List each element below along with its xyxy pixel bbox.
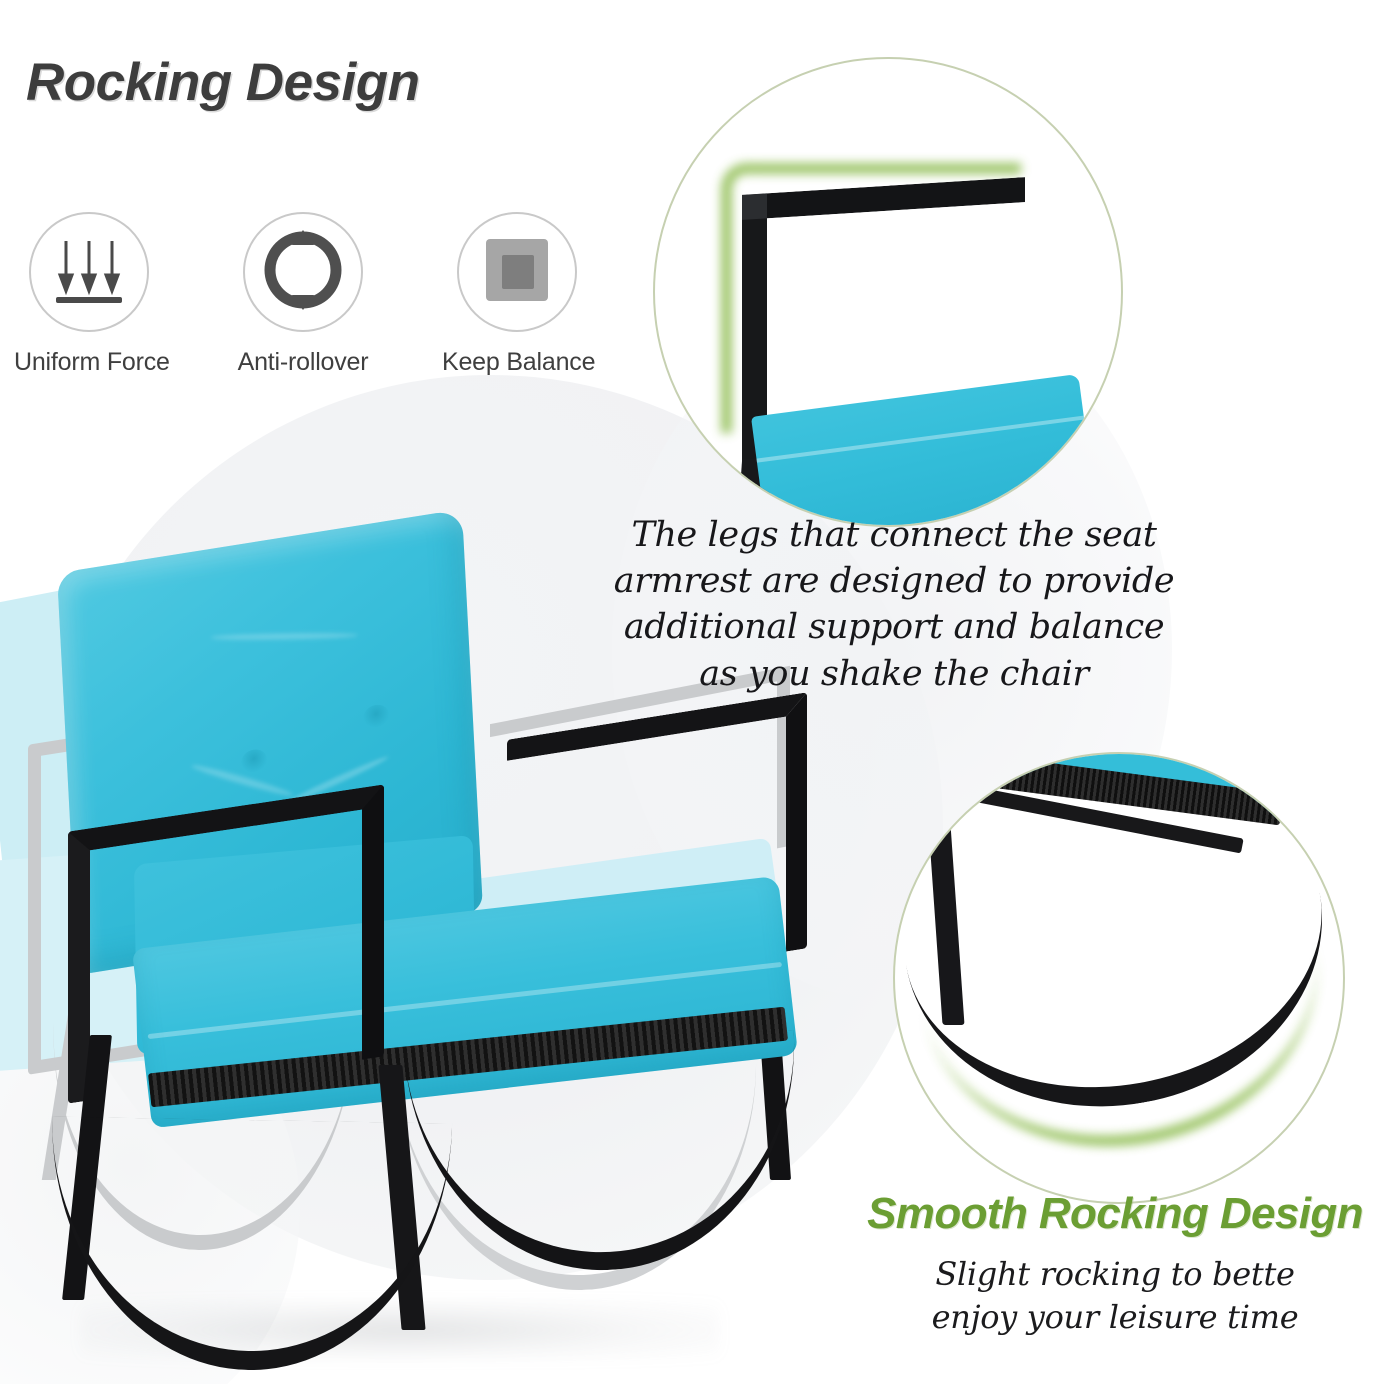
caption-line: The legs that connect the seat — [607, 512, 1181, 558]
feature-keep-balance: Keep Balance — [442, 212, 592, 377]
caption-line: additional support and balance — [607, 604, 1181, 650]
caption-line: as you shake the chair — [607, 651, 1181, 697]
feature-label: Keep Balance — [442, 348, 592, 377]
feature-icon-circle — [457, 212, 577, 332]
feature-label: Anti-rollover — [228, 348, 378, 377]
chair-arm-frame-left — [68, 784, 384, 1103]
caption-line: Slight rocking to bette — [880, 1253, 1350, 1296]
armrest-caption: The legs that connect the seat armrest a… — [607, 512, 1181, 697]
caption-line: armrest are designed to provide — [607, 558, 1181, 604]
chair-rocker-runner-rear — [404, 1030, 806, 1280]
feature-icon-circle — [243, 212, 363, 332]
infographic-canvas: Rocking Design — [0, 0, 1384, 1384]
downward-arrows-icon — [46, 227, 132, 318]
rocker-detail-circle — [893, 752, 1345, 1204]
rocker-headline: Smooth Rocking Design — [846, 1189, 1384, 1239]
feature-label: Uniform Force — [14, 348, 164, 377]
page-title: Rocking Design — [26, 52, 420, 113]
cushion-tuft-button — [241, 748, 268, 774]
rotation-arrows-icon — [260, 227, 346, 318]
feature-icon-circle — [29, 212, 149, 332]
cushion-tuft-button — [363, 703, 390, 729]
armrest-detail-circle — [653, 57, 1123, 527]
feature-uniform-force: Uniform Force — [14, 212, 164, 377]
nested-squares-icon — [474, 227, 560, 318]
feature-anti-rollover: Anti-rollover — [228, 212, 378, 377]
rocker-runner-closeup — [904, 879, 1345, 1139]
caption-line: enjoy your leisure time — [880, 1296, 1350, 1339]
cushion-crease — [210, 632, 358, 640]
feature-badge-row: Uniform Force Anti-rollover — [14, 212, 592, 377]
rocker-caption: Slight rocking to bette enjoy your leisu… — [880, 1253, 1350, 1338]
